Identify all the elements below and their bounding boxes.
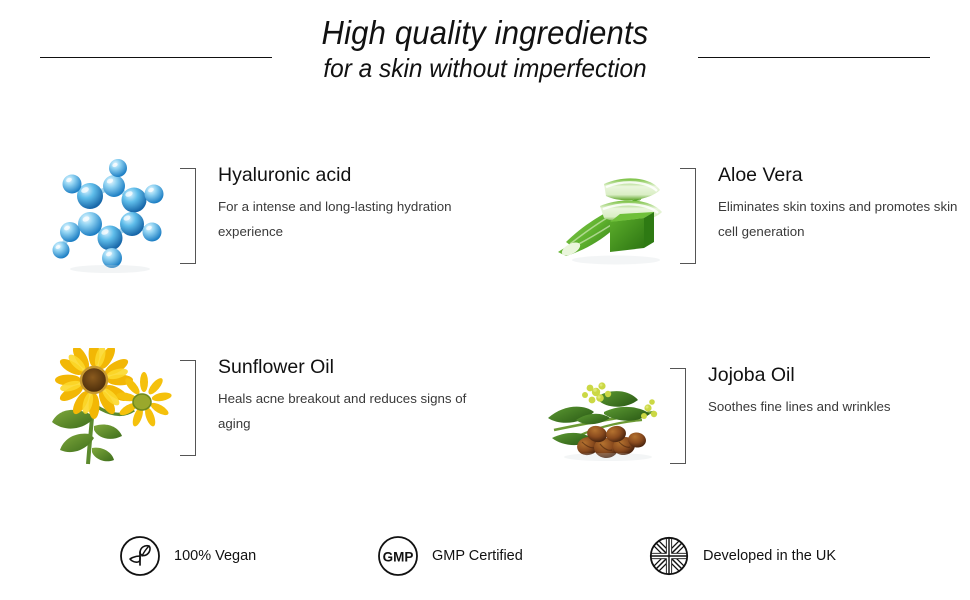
page-subtitle: for a skin without imperfection	[29, 55, 941, 81]
badge-uk: Developed in the UK	[647, 534, 836, 578]
header-titles: High quality ingredients for a skin with…	[0, 16, 970, 81]
badge-label: GMP Certified	[432, 548, 523, 564]
badge-label: Developed in the UK	[703, 548, 836, 564]
ingredient-title: Aloe Vera	[718, 164, 970, 186]
ingredient-card-aloe-vera: Aloe Vera Eliminates skin toxins and pro…	[548, 156, 970, 276]
jojoba-image	[538, 356, 668, 476]
bracket-divider	[180, 360, 196, 456]
ingredients-grid: Hyaluronic acid For a intense and long-l…	[0, 148, 970, 498]
ingredient-title: Hyaluronic acid	[218, 164, 468, 186]
badge-label: 100% Vegan	[174, 548, 256, 564]
bracket-divider	[670, 368, 686, 464]
bracket-divider	[180, 168, 196, 264]
sprout-icon	[118, 534, 162, 578]
aloe-vera-image	[548, 156, 678, 276]
ingredient-description: Heals acne breakout and reduces signs of…	[218, 387, 468, 436]
ingredient-description: Soothes fine lines and wrinkles	[708, 395, 891, 420]
ingredient-text: Hyaluronic acid For a intense and long-l…	[218, 156, 468, 245]
sunflower-image	[48, 348, 178, 468]
gmp-icon-text: GMP	[383, 550, 414, 565]
page-title: High quality ingredients	[29, 16, 941, 49]
badge-gmp: GMP GMP Certified	[376, 534, 523, 578]
ingredient-description: Eliminates skin toxins and promotes skin…	[718, 195, 970, 244]
ingredient-description: For a intense and long-lasting hydration…	[218, 195, 468, 244]
gmp-icon: GMP	[376, 534, 420, 578]
ingredient-title: Sunflower Oil	[218, 356, 468, 378]
badge-vegan: 100% Vegan	[118, 534, 256, 578]
ingredient-text: Sunflower Oil Heals acne breakout and re…	[218, 348, 468, 437]
ingredient-text: Jojoba Oil Soothes fine lines and wrinkl…	[708, 356, 891, 420]
ingredient-card-hyaluronic-acid: Hyaluronic acid For a intense and long-l…	[48, 156, 468, 276]
ingredient-title: Jojoba Oil	[708, 364, 891, 386]
union-jack-icon	[647, 534, 691, 578]
trust-badges-row: 100% Vegan GMP GMP Certified	[0, 534, 970, 596]
molecule-image	[48, 156, 178, 276]
ingredient-card-jojoba-oil: Jojoba Oil Soothes fine lines and wrinkl…	[538, 356, 891, 476]
ingredient-text: Aloe Vera Eliminates skin toxins and pro…	[718, 156, 970, 245]
ingredient-card-sunflower-oil: Sunflower Oil Heals acne breakout and re…	[48, 348, 468, 468]
bracket-divider	[680, 168, 696, 264]
page-header: High quality ingredients for a skin with…	[0, 0, 970, 100]
